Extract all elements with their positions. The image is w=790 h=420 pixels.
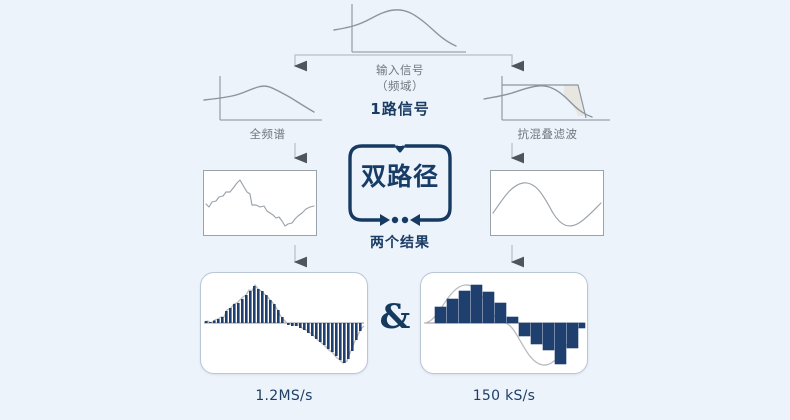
high-rate-label: 1.2MS/s [200,388,368,404]
dual-path-title: 双路径 [344,162,456,192]
filtered-sine-scope [490,170,604,236]
dual-path-badge: 双路径 [344,142,456,234]
diagram-canvas: 输入信号 （频域） 1路信号 全频谱 抗混叠滤波 [0,0,790,420]
positive-bars [435,285,518,323]
input-signal-caption-line2: （频域） [330,78,470,94]
noisy-waveform-trace [204,171,316,235]
low-rate-bar-chart [421,273,587,373]
negative-bars [519,323,585,364]
anti-alias-filter-caption: 抗混叠滤波 [480,126,615,142]
input-signal-subtitle: 1路信号 [330,98,470,119]
anti-alias-filter-plot [480,72,615,126]
sine-waveform-trace [491,171,603,235]
negative-bars [287,323,362,363]
ampersand-separator: & [377,297,413,337]
two-results-subtitle: 两个结果 [345,232,455,252]
positive-bars [205,286,284,323]
full-spectrum-caption: 全频谱 [205,126,330,142]
high-rate-bar-chart [201,273,367,373]
high-rate-result-card [200,272,368,374]
full-spectrum-scope [203,170,317,236]
input-signal-caption-line1: 输入信号 [330,62,470,78]
low-rate-label: 150 kS/s [420,388,588,404]
low-rate-result-card [420,272,588,374]
input-signal-plot [330,2,470,58]
full-spectrum-plot [200,72,325,126]
